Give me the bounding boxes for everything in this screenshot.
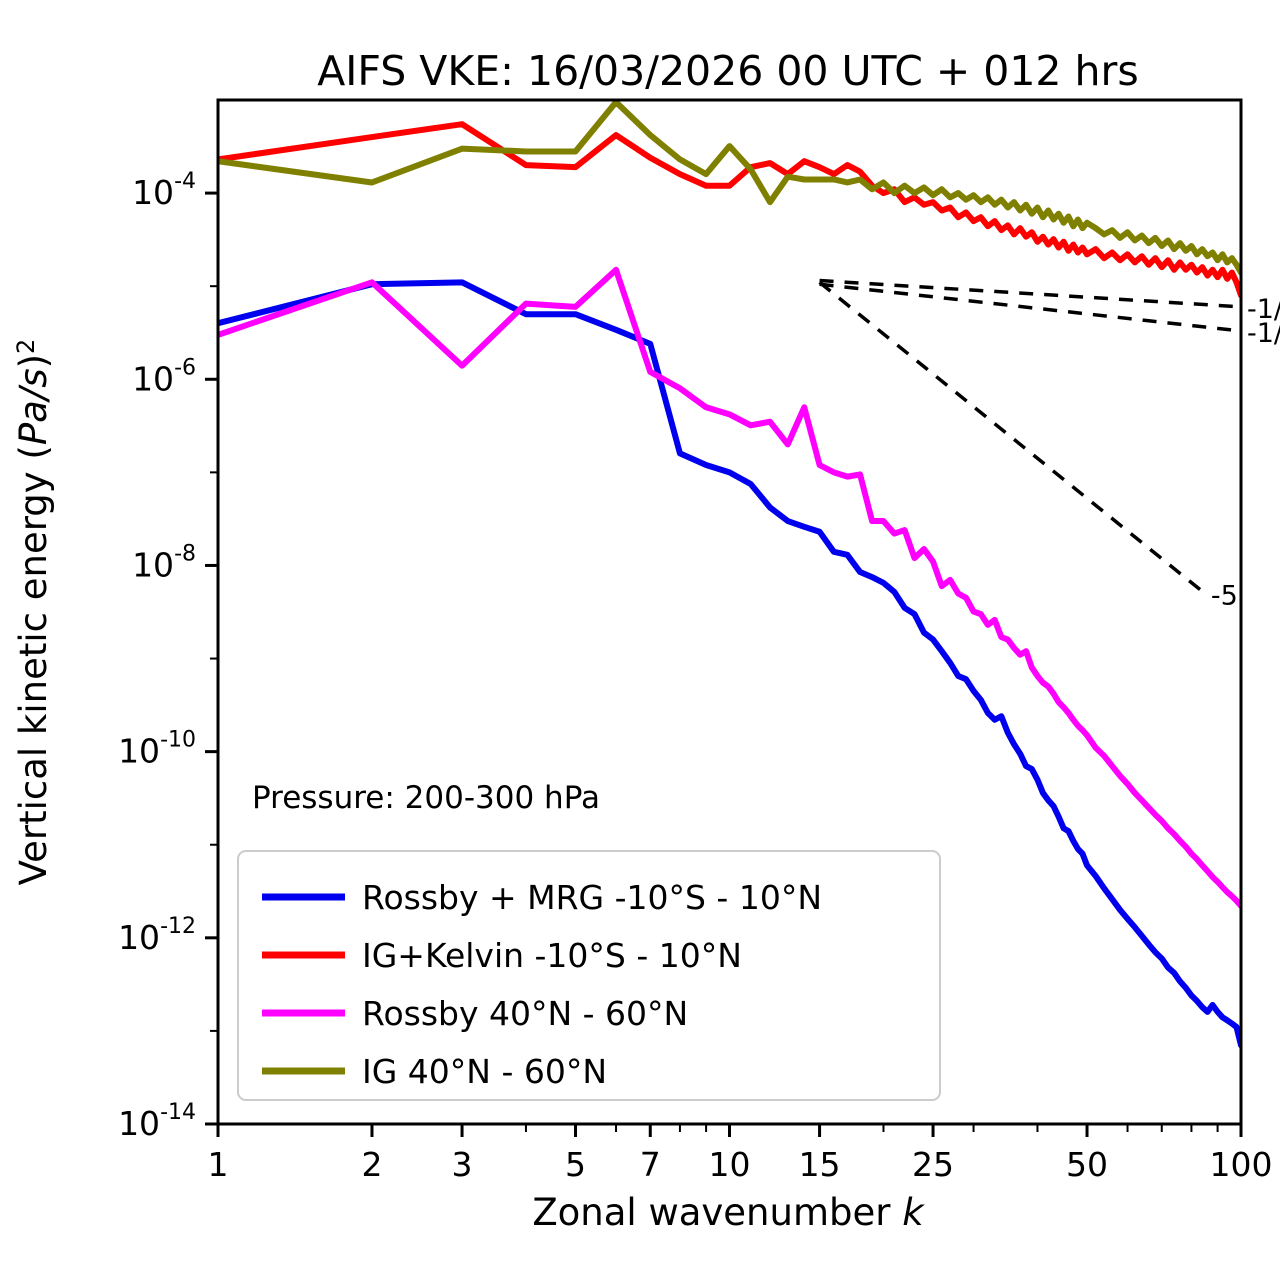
y-tick-mantissa: 10 xyxy=(118,1104,160,1143)
legend[interactable]: Rossby + MRG -10°S - 10°NIG+Kelvin -10°S… xyxy=(238,851,940,1100)
x-tick-label: 7 xyxy=(640,1145,661,1184)
y-tick-exponent: -8 xyxy=(174,541,196,566)
x-tick-label: 1 xyxy=(208,1145,229,1184)
x-tick-label: 100 xyxy=(1210,1145,1273,1184)
x-tick-label: 10 xyxy=(709,1145,751,1184)
y-axis-label-plain-a: Vertical kinetic energy ( xyxy=(12,445,55,885)
x-tick-label: 50 xyxy=(1066,1145,1108,1184)
legend-label: IG+Kelvin -10°S - 10°N xyxy=(362,936,742,975)
y-tick-mantissa: 10 xyxy=(132,545,174,584)
x-tick-label: 3 xyxy=(452,1145,473,1184)
y-tick-mantissa: 10 xyxy=(132,173,174,212)
y-tick-exponent: -14 xyxy=(160,1100,196,1125)
x-axis-label-plain: Zonal wavenumber xyxy=(532,1191,902,1234)
figure-root: AIFS VKE: 16/03/2026 00 UTC + 012 hrs Ve… xyxy=(0,0,1280,1288)
slope-label: -5 xyxy=(1211,580,1238,611)
x-tick-label: 2 xyxy=(361,1145,382,1184)
y-tick-exponent: -12 xyxy=(160,914,196,939)
x-tick-label: 15 xyxy=(799,1145,841,1184)
y-axis-label-superscript: 2 xyxy=(12,339,40,354)
chart-title: AIFS VKE: 16/03/2026 00 UTC + 012 hrs xyxy=(317,47,1138,95)
y-tick-exponent: -10 xyxy=(160,728,196,753)
y-tick-mantissa: 10 xyxy=(118,918,160,957)
legend-label: Rossby + MRG -10°S - 10°N xyxy=(362,878,822,917)
y-tick-mantissa: 10 xyxy=(118,732,160,771)
vke-spectrum-chart: AIFS VKE: 16/03/2026 00 UTC + 012 hrs Ve… xyxy=(0,0,1280,1288)
y-axis-label-plain-b: ) xyxy=(12,354,55,368)
x-tick-label: 25 xyxy=(912,1145,954,1184)
y-axis-label-italic: Pa/s xyxy=(12,368,55,445)
y-tick-mantissa: 10 xyxy=(132,359,174,398)
legend-label: Rossby 40°N - 60°N xyxy=(362,994,688,1033)
y-tick-exponent: -6 xyxy=(174,355,196,380)
x-tick-label: 5 xyxy=(565,1145,586,1184)
x-axis-label: Zonal wavenumber k xyxy=(532,1191,925,1234)
legend-label: IG 40°N - 60°N xyxy=(362,1052,607,1091)
pressure-annotation: Pressure: 200-300 hPa xyxy=(252,780,600,816)
x-axis-label-italic: k xyxy=(902,1191,925,1234)
y-axis-label: Vertical kinetic energy (Pa/s)2 xyxy=(12,339,55,886)
slope-label: -1/3 xyxy=(1247,318,1280,349)
y-tick-exponent: -4 xyxy=(174,169,196,194)
